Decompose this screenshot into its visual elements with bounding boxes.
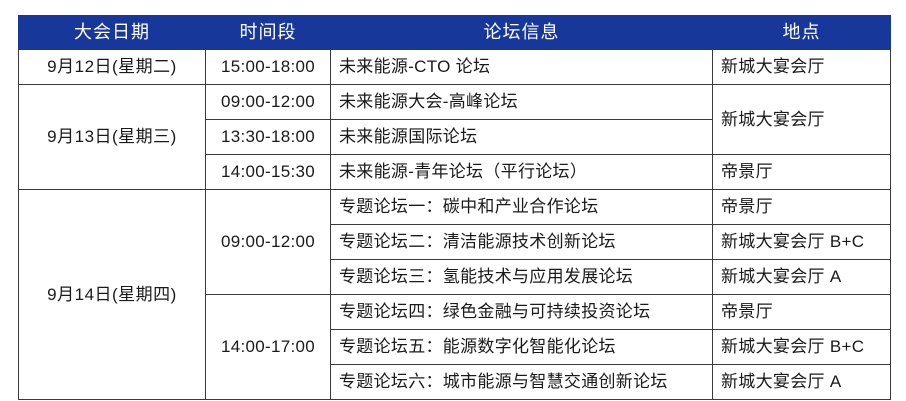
cell-forum: 未来能源-CTO 论坛 xyxy=(331,50,713,85)
cell-venue: 帝景厅 xyxy=(713,295,891,330)
column-header-venue: 地点 xyxy=(713,16,891,50)
cell-time: 14:00-15:30 xyxy=(206,155,331,190)
cell-date: 9月13日(星期三) xyxy=(19,85,206,190)
conference-schedule-table: 大会日期 时间段 论坛信息 地点 9月12日(星期二) 15:00-18:00 … xyxy=(18,15,891,400)
table-header-row: 大会日期 时间段 论坛信息 地点 xyxy=(19,16,891,50)
cell-forum: 专题论坛一：碳中和产业合作论坛 xyxy=(331,190,713,225)
cell-venue: 新城大宴会厅 A xyxy=(713,260,891,295)
cell-time: 09:00-12:00 xyxy=(206,85,331,120)
cell-time: 13:30-18:00 xyxy=(206,120,331,155)
cell-forum: 专题论坛二：清洁能源技术创新论坛 xyxy=(331,225,713,260)
table-body: 9月12日(星期二) 15:00-18:00 未来能源-CTO 论坛 新城大宴会… xyxy=(19,50,891,400)
table-row: 9月13日(星期三) 09:00-12:00 未来能源大会-高峰论坛 新城大宴会… xyxy=(19,85,891,120)
cell-venue: 新城大宴会厅 xyxy=(713,50,891,85)
column-header-time: 时间段 xyxy=(206,16,331,50)
cell-forum: 专题论坛四：绿色金融与可持续投资论坛 xyxy=(331,295,713,330)
cell-forum: 专题论坛五：能源数字化智能化论坛 xyxy=(331,330,713,365)
cell-forum: 专题论坛六：城市能源与智慧交通创新论坛 xyxy=(331,365,713,400)
cell-forum: 未来能源大会-高峰论坛 xyxy=(331,85,713,120)
column-header-forum: 论坛信息 xyxy=(331,16,713,50)
table-header: 大会日期 时间段 论坛信息 地点 xyxy=(19,16,891,50)
column-header-date: 大会日期 xyxy=(19,16,206,50)
cell-date: 9月12日(星期二) xyxy=(19,50,206,85)
cell-venue: 新城大宴会厅 xyxy=(713,85,891,155)
cell-time: 09:00-12:00 xyxy=(206,190,331,295)
cell-venue: 新城大宴会厅 B+C xyxy=(713,330,891,365)
cell-time: 14:00-17:00 xyxy=(206,295,331,400)
cell-forum: 专题论坛三：氢能技术与应用发展论坛 xyxy=(331,260,713,295)
table-row: 9月14日(星期四) 09:00-12:00 专题论坛一：碳中和产业合作论坛 帝… xyxy=(19,190,891,225)
cell-venue: 新城大宴会厅 B+C xyxy=(713,225,891,260)
cell-venue: 新城大宴会厅 A xyxy=(713,365,891,400)
cell-date: 9月14日(星期四) xyxy=(19,190,206,400)
schedule-table-container: 大会日期 时间段 论坛信息 地点 9月12日(星期二) 15:00-18:00 … xyxy=(18,15,890,388)
cell-venue: 帝景厅 xyxy=(713,155,891,190)
cell-forum: 未来能源-青年论坛（平行论坛） xyxy=(331,155,713,190)
cell-venue: 帝景厅 xyxy=(713,190,891,225)
cell-time: 15:00-18:00 xyxy=(206,50,331,85)
table-row: 9月12日(星期二) 15:00-18:00 未来能源-CTO 论坛 新城大宴会… xyxy=(19,50,891,85)
cell-forum: 未来能源国际论坛 xyxy=(331,120,713,155)
